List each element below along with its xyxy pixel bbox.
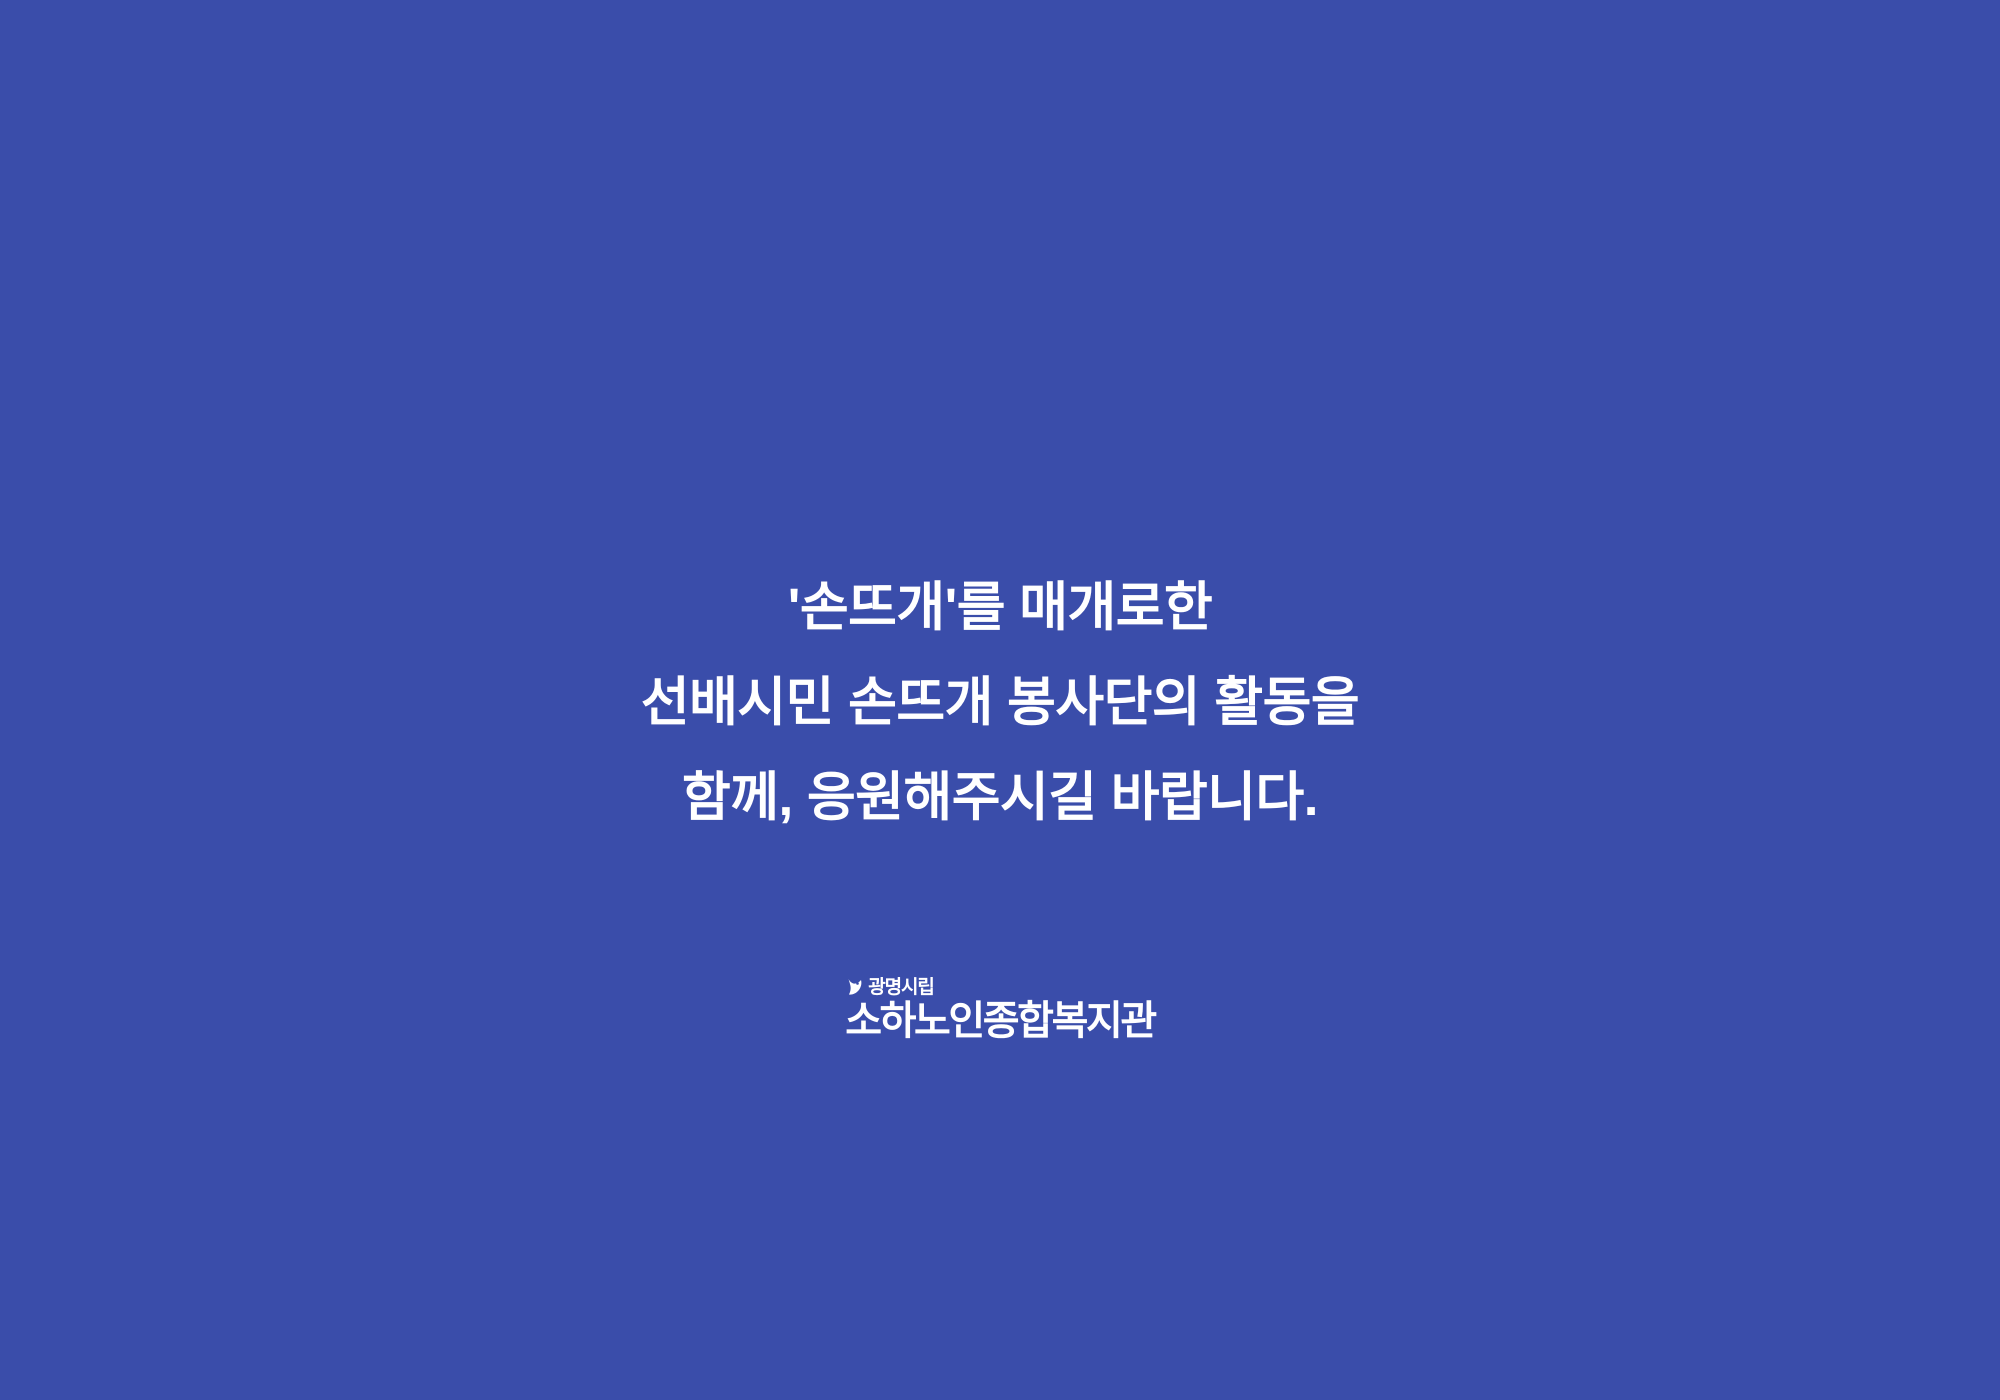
message-line-2: 선배시민 손뜨개 봉사단의 활동을 [0, 655, 2000, 750]
gwangmyeong-city-bird-mark-icon [847, 978, 864, 998]
message-line-1: '손뜨개'를 매개로한 [0, 560, 2000, 655]
logo-main-label: 소하노인종합복지관 [845, 999, 1155, 1043]
slide-canvas: '손뜨개'를 매개로한 선배시민 손뜨개 봉사단의 활동을 함께, 응원해주시길… [0, 0, 2000, 1400]
logo-sub-label: 광명시립 [868, 978, 934, 998]
message-line-3: 함께, 응원해주시길 바랍니다. [0, 750, 2000, 845]
logo-top-row: 광명시립 [847, 978, 1155, 998]
logo-lockup: 광명시립 소하노인종합복지관 [845, 978, 1155, 1043]
message-block: '손뜨개'를 매개로한 선배시민 손뜨개 봉사단의 활동을 함께, 응원해주시길… [0, 560, 2000, 845]
organization-logo: 광명시립 소하노인종합복지관 [0, 978, 2000, 1043]
